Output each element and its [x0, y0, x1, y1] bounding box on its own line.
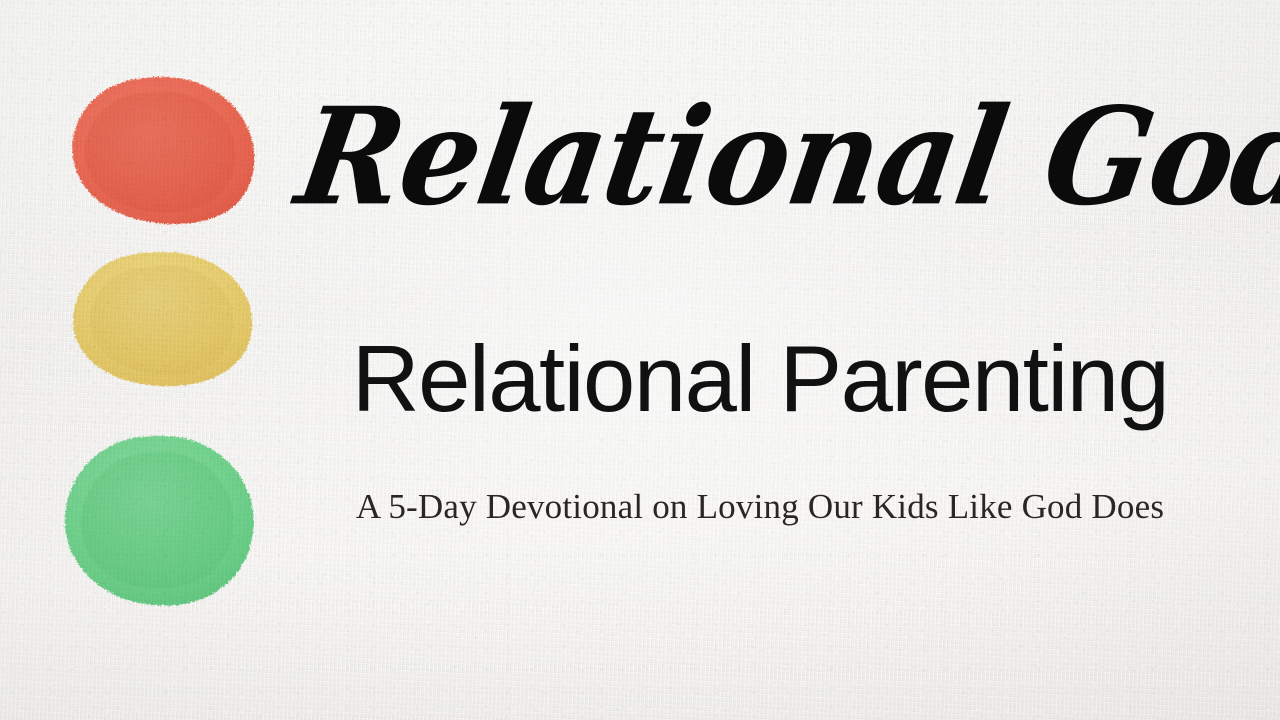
yellow-circle — [68, 250, 260, 390]
devotional-cover: Relational God Relational Parenting A 5-… — [0, 0, 1280, 720]
script-title: Relational God — [289, 91, 1230, 225]
traffic-light-graphic — [0, 0, 300, 720]
subtitle: A 5-Day Devotional on Loving Our Kids Li… — [300, 488, 1220, 527]
green-circle — [60, 432, 260, 612]
page-title: Relational Parenting — [300, 332, 1220, 426]
red-circle — [66, 74, 262, 226]
yellow-circle-wash — [90, 266, 234, 376]
green-circle-wash — [81, 452, 234, 589]
cover-text-block: Relational God Relational Parenting A 5-… — [300, 0, 1220, 720]
red-circle-wash — [84, 91, 235, 213]
